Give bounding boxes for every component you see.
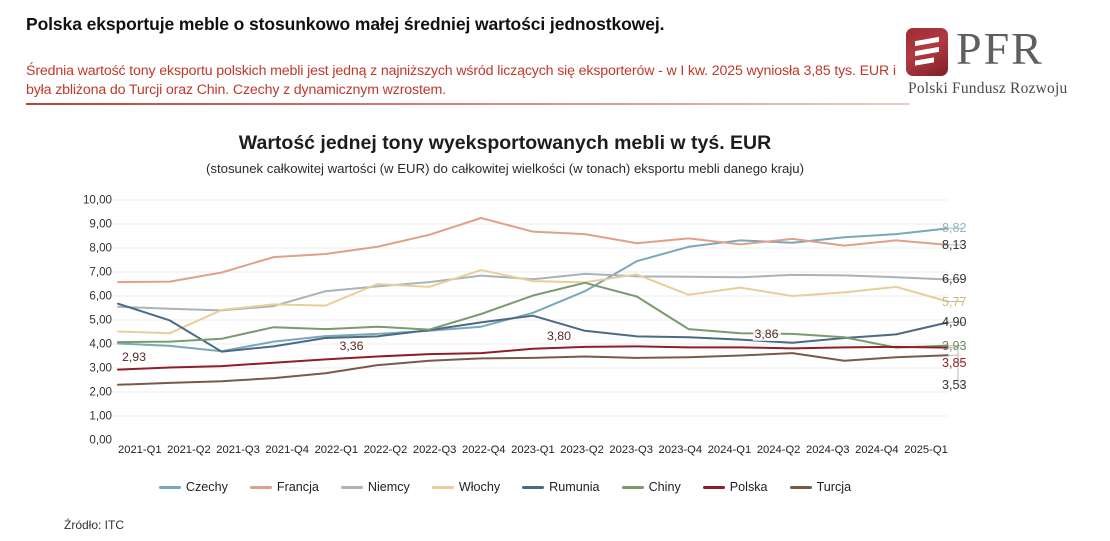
series-end-labels: 8,828,136,695,774,903,933,853,53 bbox=[938, 186, 1008, 438]
data-label-polska: 2,93 bbox=[120, 350, 148, 364]
legend-label: Niemcy bbox=[368, 480, 410, 494]
legend-item-włochy[interactable]: Włochy bbox=[432, 480, 500, 494]
data-label-polska: 3,36 bbox=[337, 339, 365, 353]
pfr-logo: PFR Polski Fundusz Rozwoju bbox=[906, 26, 1096, 100]
pfr-logo-mark-icon bbox=[906, 28, 948, 76]
pfr-tagline: Polski Fundusz Rozwoju bbox=[908, 80, 1067, 98]
legend-swatch-icon bbox=[522, 486, 544, 489]
x-axis-tick: 2023-Q2 bbox=[560, 444, 604, 456]
legend-swatch-icon bbox=[790, 486, 812, 489]
x-axis-tick: 2022-Q4 bbox=[462, 444, 506, 456]
legend-item-czechy[interactable]: Czechy bbox=[159, 480, 228, 494]
subheadline-underline bbox=[26, 103, 910, 105]
x-axis-tick: 2024-Q3 bbox=[806, 444, 850, 456]
chart-legend: CzechyFrancjaNiemcyWłochyRumuniaChinyPol… bbox=[0, 480, 1010, 494]
legend-label: Włochy bbox=[459, 480, 500, 494]
legend-item-turcja[interactable]: Turcja bbox=[790, 480, 852, 494]
pfr-wordmark: PFR bbox=[956, 22, 1044, 75]
x-axis-tick: 2021-Q3 bbox=[216, 444, 260, 456]
end-label-turcja: 3,53 bbox=[942, 378, 967, 392]
legend-label: Rumunia bbox=[549, 480, 599, 494]
chart-subtitle: (stosunek całkowitej wartości (w EUR) do… bbox=[0, 161, 1010, 176]
end-label-francja: 8,13 bbox=[942, 238, 967, 252]
end-label-włochy: 5,77 bbox=[942, 295, 967, 309]
legend-swatch-icon bbox=[159, 486, 181, 489]
x-axis-tick: 2023-Q4 bbox=[659, 444, 703, 456]
data-label-polska: 3,86 bbox=[752, 327, 780, 341]
x-axis-tick: 2024-Q1 bbox=[708, 444, 752, 456]
x-axis-tick: 2022-Q2 bbox=[364, 444, 408, 456]
legend-item-polska[interactable]: Polska bbox=[703, 480, 768, 494]
legend-swatch-icon bbox=[250, 486, 272, 489]
legend-item-chiny[interactable]: Chiny bbox=[622, 480, 681, 494]
x-axis-tick: 2024-Q2 bbox=[757, 444, 801, 456]
page-headline: Polska eksportuje meble o stosunkowo mał… bbox=[26, 14, 886, 35]
x-axis-tick: 2022-Q1 bbox=[315, 444, 359, 456]
x-axis-tick: 2024-Q4 bbox=[855, 444, 899, 456]
source-note: Źródło: ITC bbox=[64, 518, 124, 532]
end-label-niemcy: 6,69 bbox=[942, 272, 967, 286]
x-axis-labels: 2021-Q12021-Q22021-Q32021-Q42022-Q12022-… bbox=[118, 444, 948, 456]
legend-label: Turcja bbox=[817, 480, 852, 494]
end-label-rumunia: 4,90 bbox=[942, 315, 967, 329]
end-label-czechy: 8,82 bbox=[942, 221, 967, 235]
legend-label: Chiny bbox=[649, 480, 681, 494]
legend-swatch-icon bbox=[341, 486, 363, 489]
legend-label: Czechy bbox=[186, 480, 228, 494]
chart-plot-area: 10,009,008,007,006,005,004,003,002,001,0… bbox=[0, 186, 1110, 486]
legend-item-francja[interactable]: Francja bbox=[250, 480, 319, 494]
page-subheadline: Średnia wartość tony eksportu polskich m… bbox=[26, 62, 906, 100]
x-axis-tick: 2021-Q2 bbox=[167, 444, 211, 456]
chart-title: Wartość jednej tony wyeksportowanych meb… bbox=[0, 132, 1010, 155]
x-axis-tick: 2023-Q1 bbox=[511, 444, 555, 456]
legend-label: Polska bbox=[730, 480, 768, 494]
data-label-polska: 3,80 bbox=[545, 329, 573, 343]
end-label-chiny: 3,93 bbox=[942, 339, 967, 353]
legend-swatch-icon bbox=[432, 486, 454, 489]
legend-label: Francja bbox=[277, 480, 319, 494]
legend-item-niemcy[interactable]: Niemcy bbox=[341, 480, 410, 494]
legend-item-rumunia[interactable]: Rumunia bbox=[522, 480, 599, 494]
legend-swatch-icon bbox=[703, 486, 725, 489]
legend-swatch-icon bbox=[622, 486, 644, 489]
x-axis-tick: 2025-Q1 bbox=[904, 444, 948, 456]
end-label-polska: 3,85 bbox=[942, 356, 967, 370]
x-axis-tick: 2023-Q3 bbox=[609, 444, 653, 456]
x-axis-tick: 2021-Q1 bbox=[118, 444, 162, 456]
x-axis-tick: 2022-Q3 bbox=[413, 444, 457, 456]
x-axis-tick: 2021-Q4 bbox=[265, 444, 309, 456]
